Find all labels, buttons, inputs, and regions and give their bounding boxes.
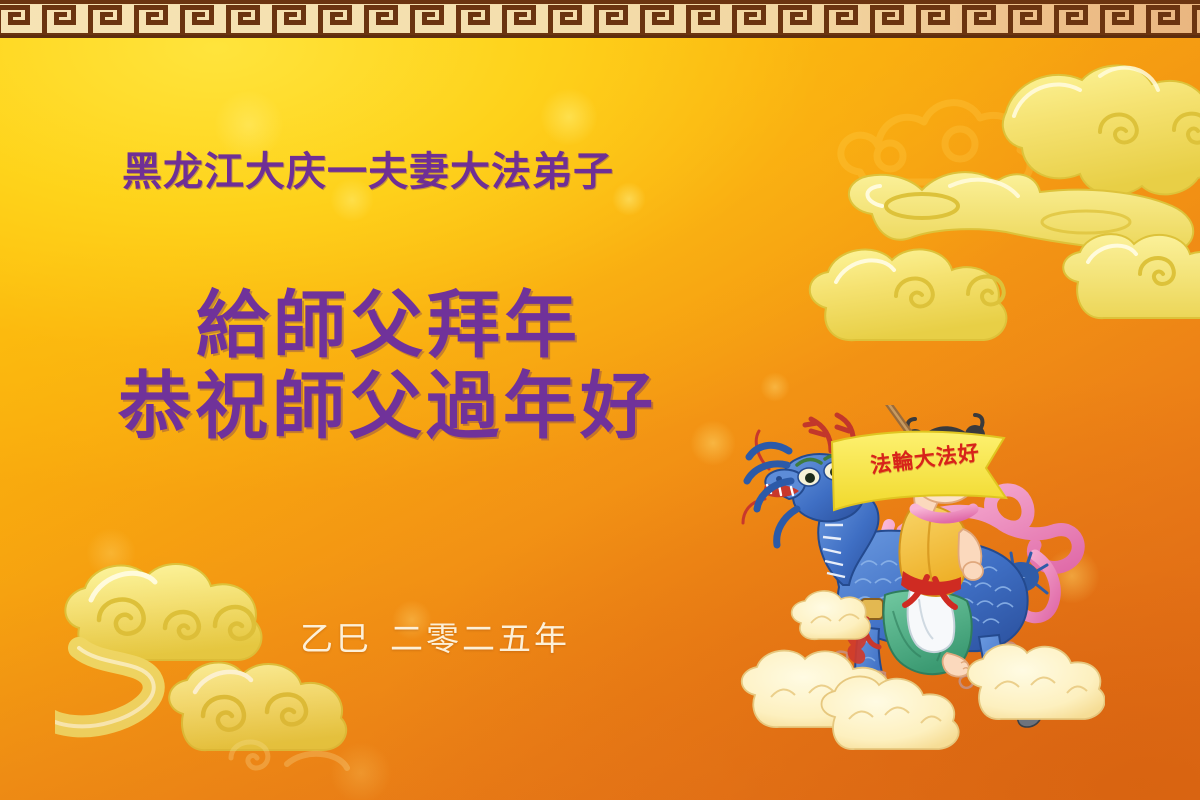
cloud-shape-ghost-bottom bbox=[231, 742, 347, 768]
cloud-shape-tail bbox=[55, 648, 154, 726]
meander-unit bbox=[134, 0, 180, 38]
meander-unit bbox=[640, 0, 686, 38]
meander-unit bbox=[410, 0, 456, 38]
cloud-ghost-decoration bbox=[820, 52, 1080, 232]
meander-unit bbox=[1192, 0, 1200, 38]
new-year-greeting-card: 黑龙江大庆一夫妻大法弟子 給師父拜年 恭祝師父過年好 乙巳二零二五年 bbox=[0, 0, 1200, 800]
meander-unit bbox=[962, 0, 1008, 38]
cloud-bottom-left bbox=[55, 550, 405, 790]
cloud-shape-lower-left bbox=[810, 249, 1007, 340]
meander-unit bbox=[824, 0, 870, 38]
meander-unit bbox=[0, 0, 42, 38]
bokeh-dot bbox=[612, 182, 646, 216]
meander-unit bbox=[870, 0, 916, 38]
meander-unit bbox=[180, 0, 226, 38]
meander-unit bbox=[42, 0, 88, 38]
cloud-shape-upper bbox=[1003, 65, 1200, 195]
bokeh-dot bbox=[86, 528, 136, 578]
meander-unit bbox=[1100, 0, 1146, 38]
date-year: 二零二五年 bbox=[390, 619, 570, 658]
cloud-shape-upper-left bbox=[65, 564, 261, 660]
meander-unit bbox=[594, 0, 640, 38]
meander-unit bbox=[364, 0, 410, 38]
meander-unit bbox=[272, 0, 318, 38]
meander-unit bbox=[1008, 0, 1054, 38]
meander-unit bbox=[1146, 0, 1192, 38]
sender-line: 黑龙江大庆一夫妻大法弟子 bbox=[122, 139, 614, 197]
meander-unit bbox=[226, 0, 272, 38]
border-bottom-cap bbox=[0, 35, 1200, 38]
cloud-top-right bbox=[800, 46, 1200, 376]
cloud-shape-stream bbox=[849, 172, 1193, 252]
date-ganzhi: 乙巳 bbox=[300, 619, 372, 658]
bokeh-dot bbox=[690, 420, 736, 466]
top-meander-border bbox=[0, 0, 1200, 38]
meander-unit bbox=[686, 0, 732, 38]
meander-unit bbox=[916, 0, 962, 38]
bokeh-dot bbox=[760, 372, 790, 402]
meander-unit bbox=[318, 0, 364, 38]
meander-unit bbox=[456, 0, 502, 38]
meander-unit bbox=[778, 0, 824, 38]
greeting-line-2: 恭祝師父過年好 bbox=[118, 347, 657, 453]
bokeh-dot bbox=[330, 742, 392, 800]
cloud-shape-right-small bbox=[1063, 234, 1200, 318]
bokeh-dot bbox=[540, 88, 598, 146]
meander-unit bbox=[732, 0, 778, 38]
meander-unit bbox=[1054, 0, 1100, 38]
date-line: 乙巳二零二五年 bbox=[300, 612, 570, 660]
meander-pattern-row bbox=[0, 0, 1200, 38]
meander-unit bbox=[88, 0, 134, 38]
cloud-shape-lower-right bbox=[169, 663, 346, 751]
meander-unit bbox=[548, 0, 594, 38]
meander-unit bbox=[502, 0, 548, 38]
